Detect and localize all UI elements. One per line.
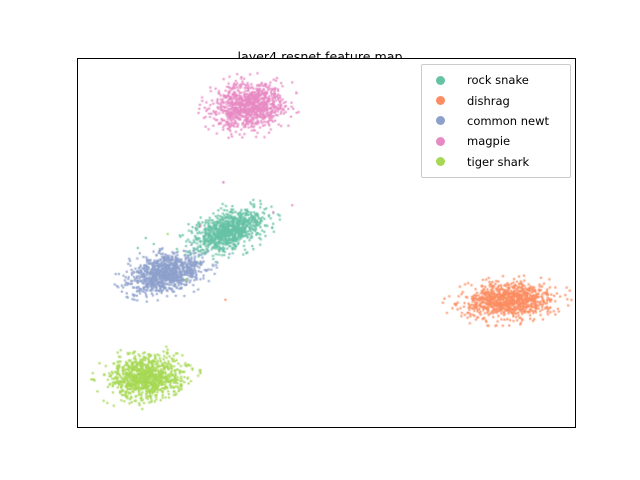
legend-item-magpie[interactable]: magpie: [430, 131, 564, 151]
legend-box: rock snake dishrag common newt magpie ti…: [421, 64, 571, 178]
legend-item-tiger-shark[interactable]: tiger shark: [430, 152, 564, 172]
legend-marker-icon: [436, 157, 445, 166]
legend-item-common-newt[interactable]: common newt: [430, 111, 564, 131]
figure-canvas: layer4 resnet feature map time consume:2…: [0, 0, 640, 480]
legend-marker-icon: [436, 76, 445, 85]
legend-item-label: dishrag: [467, 94, 510, 108]
legend-marker-icon: [436, 137, 445, 146]
legend-item-label: common newt: [467, 114, 549, 128]
legend-item-dishrag[interactable]: dishrag: [430, 90, 564, 110]
legend-item-label: rock snake: [467, 73, 529, 87]
legend-item-label: tiger shark: [467, 155, 529, 169]
legend-item-label: magpie: [467, 134, 510, 148]
legend-marker-icon: [436, 96, 445, 105]
legend-marker-icon: [436, 116, 445, 125]
legend-item-rock-snake[interactable]: rock snake: [430, 70, 564, 90]
